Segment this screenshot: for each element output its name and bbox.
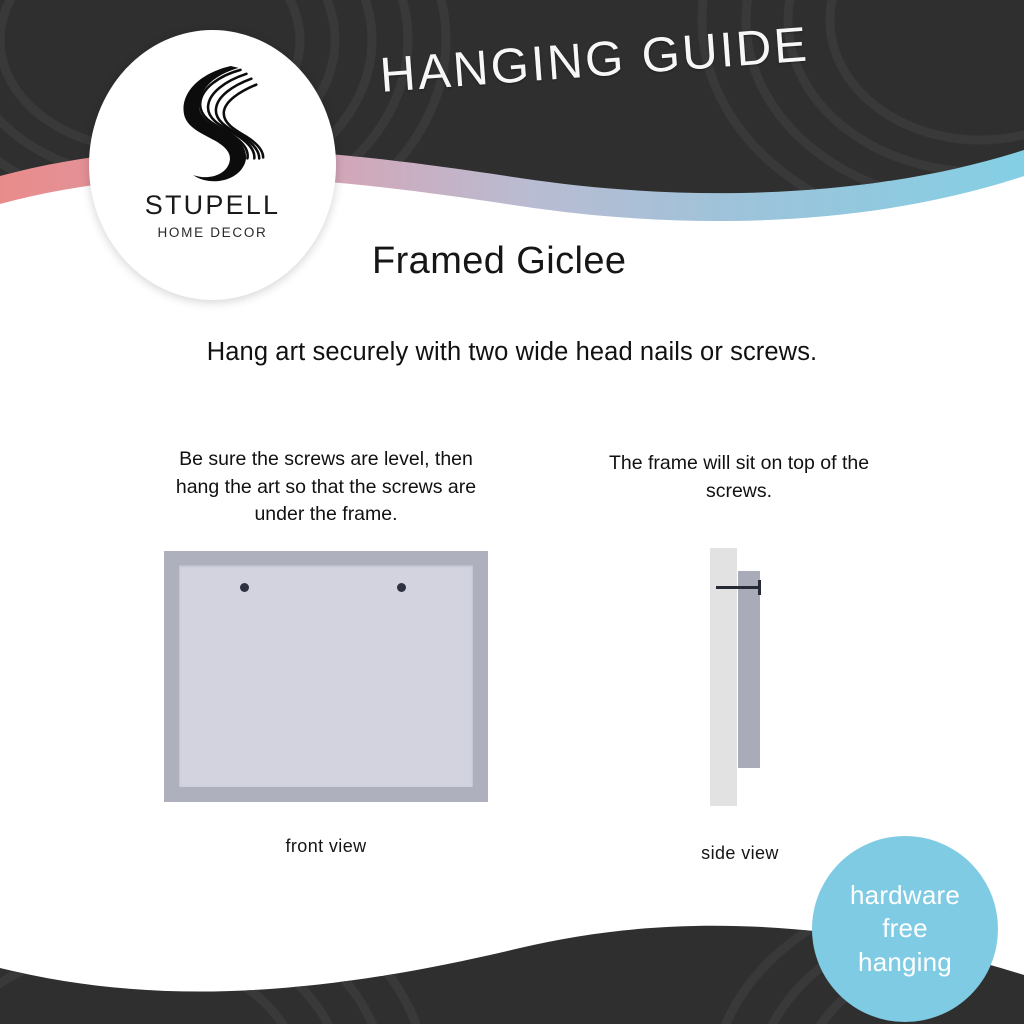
nail-head-icon <box>758 580 761 595</box>
stupell-swoosh-icon <box>154 58 272 186</box>
front-view-caption: front view <box>164 836 488 857</box>
hanging-guide-page: STUPELL HOME DECOR HANGING GUIDE Framed … <box>0 0 1024 1024</box>
hardware-free-hanging-badge: hardware free hanging <box>812 836 998 1022</box>
hardware-free-hanging-badge-label: hardware free hanging <box>850 879 960 979</box>
stupell-logo-badge: STUPELL HOME DECOR <box>89 30 336 300</box>
front-frame-mat <box>179 565 473 787</box>
badge-line-1: hardware <box>850 879 960 912</box>
badge-line-3: hanging <box>850 946 960 979</box>
nail-icon <box>716 586 760 589</box>
logo-tagline: HOME DECOR <box>157 226 267 240</box>
side-view-caption: side view <box>660 843 820 864</box>
badge-line-2: free <box>850 912 960 945</box>
screw-dot-right-icon <box>397 583 406 592</box>
product-type-label: Framed Giclee <box>372 240 626 283</box>
side-view-instruction: The frame will sit on top of the screws. <box>600 450 878 505</box>
side-frame-bar <box>738 571 760 768</box>
headline-instruction: Hang art securely with two wide head nai… <box>0 338 1024 367</box>
screw-dot-left-icon <box>240 583 249 592</box>
side-view-diagram <box>700 548 778 806</box>
front-view-diagram <box>164 551 488 802</box>
logo-wordmark: STUPELL <box>145 192 280 219</box>
page-title: HANGING GUIDE <box>378 17 811 104</box>
front-view-instruction: Be sure the screws are level, then hang … <box>168 446 484 529</box>
